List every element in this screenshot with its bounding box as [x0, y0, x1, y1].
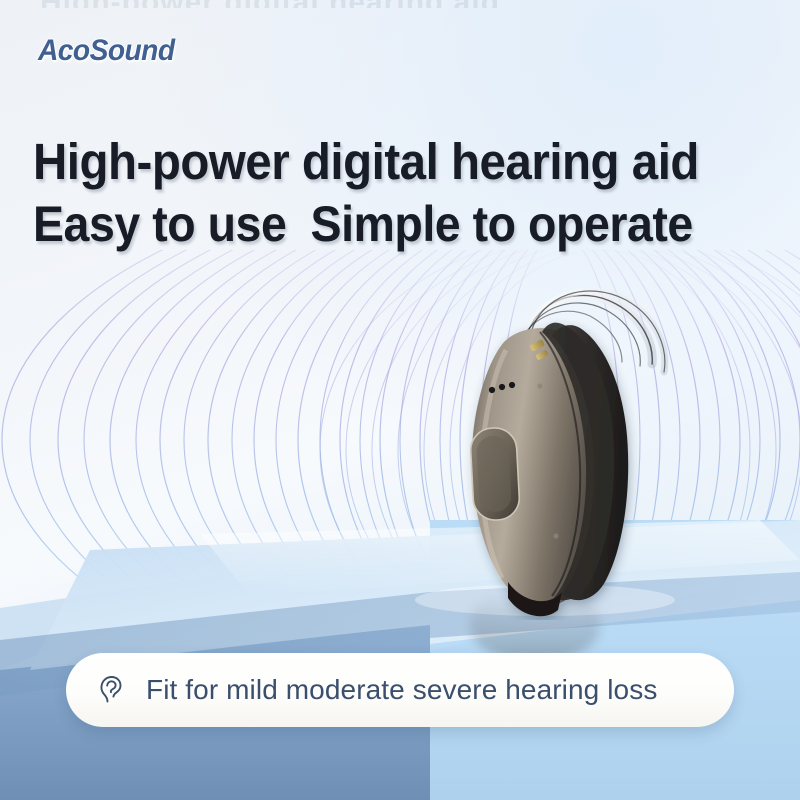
headline-line-1: High-power digital hearing aid: [33, 131, 721, 193]
product-marketing-poster: High-power digital hearing aid: [0, 0, 800, 800]
ear-icon: [96, 673, 130, 707]
headline-line-2: Easy to useSimple to operate: [33, 193, 721, 255]
cropped-top-text: High-power digital hearing aid: [40, 0, 740, 8]
brand-logo[interactable]: AcoSound: [38, 34, 174, 68]
feature-banner-text: Fit for mild moderate severe hearing los…: [146, 674, 657, 706]
hearing-aid-product-image: [430, 280, 690, 620]
headline-line-2-part-1: Easy to use: [33, 196, 286, 252]
program-rocker-button: [470, 427, 521, 521]
headline-line-2-part-2: Simple to operate: [311, 196, 693, 252]
feature-banner: Fit for mild moderate severe hearing los…: [66, 653, 734, 727]
page-title: High-power digital hearing aid Easy to u…: [33, 131, 773, 255]
